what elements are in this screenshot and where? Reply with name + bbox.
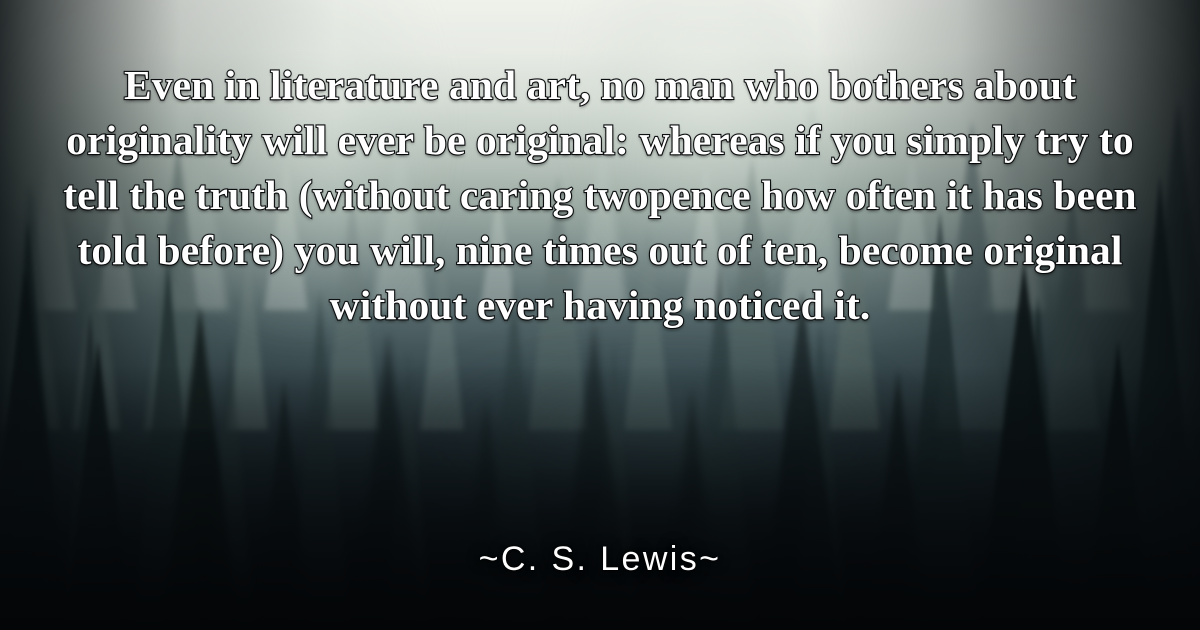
quote-card: Even in literature and art, no man who b… [0, 0, 1200, 630]
quote-text: Even in literature and art, no man who b… [60, 58, 1140, 333]
quote-content: Even in literature and art, no man who b… [0, 0, 1200, 630]
